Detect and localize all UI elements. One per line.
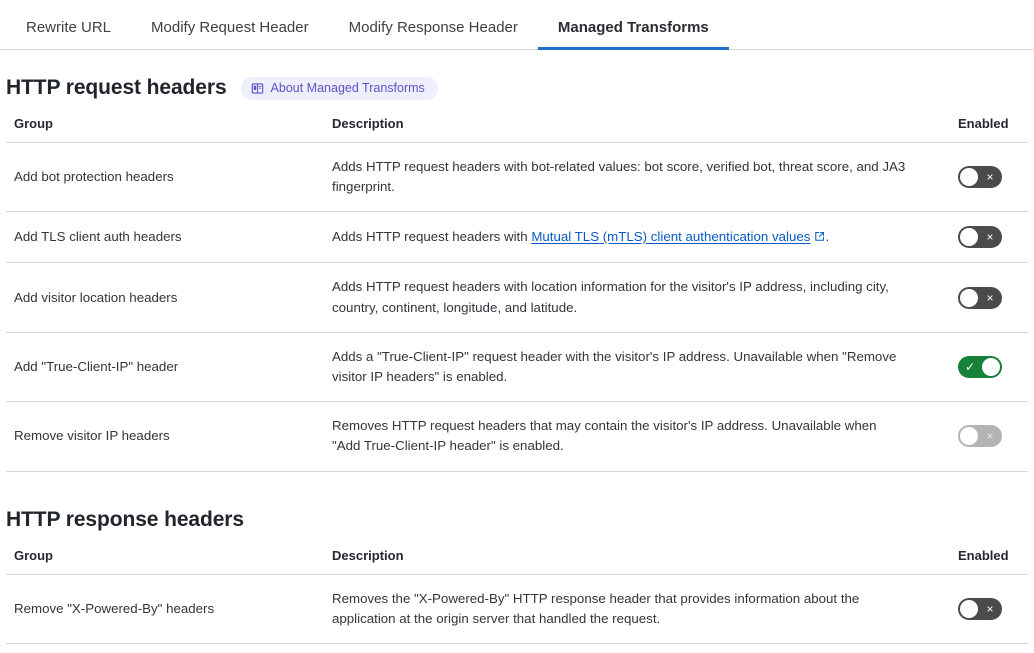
column-header-enabled: Enabled xyxy=(932,116,1028,143)
toggle-remove-visitor-ip-headers: × xyxy=(958,425,1002,447)
toggle-add-bot-protection-headers[interactable]: × xyxy=(958,166,1002,188)
row-description: Removes HTTP request headers that may co… xyxy=(319,402,932,471)
table-row: Add security headers Adds several securi… xyxy=(6,644,1028,653)
row-enabled-cell: × xyxy=(932,212,1028,263)
section-http-response-headers: HTTP response headers Group Description … xyxy=(6,508,1028,653)
table-row: Remove visitor IP headers Removes HTTP r… xyxy=(6,402,1028,471)
close-icon: × xyxy=(978,166,1002,188)
row-group-label: Remove visitor IP headers xyxy=(6,402,319,471)
table-row: Add bot protection headers Adds HTTP req… xyxy=(6,143,1028,212)
row-description: Adds several security-related HTTP respo… xyxy=(319,644,932,653)
close-icon: × xyxy=(978,226,1002,248)
book-icon xyxy=(251,82,264,95)
description-suffix: . xyxy=(825,229,829,244)
managed-transforms-response-table: Group Description Enabled Remove "X-Powe… xyxy=(6,548,1028,653)
row-group-label: Add "True-Client-IP" header xyxy=(6,332,319,401)
table-row: Add "True-Client-IP" header Adds a "True… xyxy=(6,332,1028,401)
tab-rewrite-url[interactable]: Rewrite URL xyxy=(6,20,131,49)
close-icon: × xyxy=(978,425,1002,447)
row-enabled-cell: × xyxy=(932,574,1028,643)
table-row: Add visitor location headers Adds HTTP r… xyxy=(6,263,1028,332)
row-description: Adds a "True-Client-IP" request header w… xyxy=(319,332,932,401)
section-header: HTTP request headers About Managed Trans… xyxy=(6,76,1028,100)
mtls-client-authentication-values-link[interactable]: Mutual TLS (mTLS) client authentication … xyxy=(531,229,810,244)
description-prefix: Adds HTTP request headers with xyxy=(332,229,531,244)
section-http-request-headers: HTTP request headers About Managed Trans… xyxy=(6,76,1028,472)
column-header-group: Group xyxy=(6,116,319,143)
toggle-knob xyxy=(960,600,978,618)
row-group-label: Add bot protection headers xyxy=(6,143,319,212)
toggle-knob xyxy=(960,289,978,307)
tab-bar: Rewrite URL Modify Request Header Modify… xyxy=(0,0,1034,50)
toggle-knob xyxy=(982,358,1000,376)
table-header-row: Group Description Enabled xyxy=(6,116,1028,143)
row-description: Adds HTTP request headers with Mutual TL… xyxy=(319,212,932,263)
row-description: Adds HTTP request headers with location … xyxy=(319,263,932,332)
toggle-knob xyxy=(960,427,978,445)
page-title: HTTP request headers xyxy=(6,76,227,100)
row-group-label: Add security headers xyxy=(6,644,319,653)
tab-modify-response-header[interactable]: Modify Response Header xyxy=(329,20,538,49)
toggle-add-true-client-ip-header[interactable]: ✓ xyxy=(958,356,1002,378)
row-enabled-cell: × xyxy=(932,402,1028,471)
toggle-add-tls-client-auth-headers[interactable]: × xyxy=(958,226,1002,248)
page-content: HTTP request headers About Managed Trans… xyxy=(0,76,1034,653)
close-icon: × xyxy=(978,287,1002,309)
row-group-label: Add TLS client auth headers xyxy=(6,212,319,263)
toggle-remove-x-powered-by-headers[interactable]: × xyxy=(958,598,1002,620)
column-header-description: Description xyxy=(319,548,932,575)
row-enabled-cell: ✓ xyxy=(932,332,1028,401)
row-enabled-cell: × xyxy=(932,143,1028,212)
row-enabled-cell: × xyxy=(932,263,1028,332)
column-header-description: Description xyxy=(319,116,932,143)
toggle-knob xyxy=(960,228,978,246)
managed-transforms-request-table: Group Description Enabled Add bot protec… xyxy=(6,116,1028,472)
about-badge-label: About Managed Transforms xyxy=(271,82,425,95)
row-enabled-cell: × xyxy=(932,644,1028,653)
row-group-label: Add visitor location headers xyxy=(6,263,319,332)
tab-managed-transforms[interactable]: Managed Transforms xyxy=(538,20,729,49)
row-description: Removes the "X-Powered-By" HTTP response… xyxy=(319,574,932,643)
tab-modify-request-header[interactable]: Modify Request Header xyxy=(131,20,329,49)
row-group-label: Remove "X-Powered-By" headers xyxy=(6,574,319,643)
row-description: Adds HTTP request headers with bot-relat… xyxy=(319,143,932,212)
about-managed-transforms-badge[interactable]: About Managed Transforms xyxy=(241,77,438,100)
toggle-knob xyxy=(960,168,978,186)
external-link-icon[interactable] xyxy=(814,228,825,248)
column-header-group: Group xyxy=(6,548,319,575)
table-header-row: Group Description Enabled xyxy=(6,548,1028,575)
check-icon: ✓ xyxy=(958,356,982,378)
section-header: HTTP response headers xyxy=(6,508,1028,532)
close-icon: × xyxy=(978,598,1002,620)
table-row: Add TLS client auth headers Adds HTTP re… xyxy=(6,212,1028,263)
table-row: Remove "X-Powered-By" headers Removes th… xyxy=(6,574,1028,643)
toggle-add-visitor-location-headers[interactable]: × xyxy=(958,287,1002,309)
section-title-response: HTTP response headers xyxy=(6,508,244,532)
column-header-enabled: Enabled xyxy=(932,548,1028,575)
